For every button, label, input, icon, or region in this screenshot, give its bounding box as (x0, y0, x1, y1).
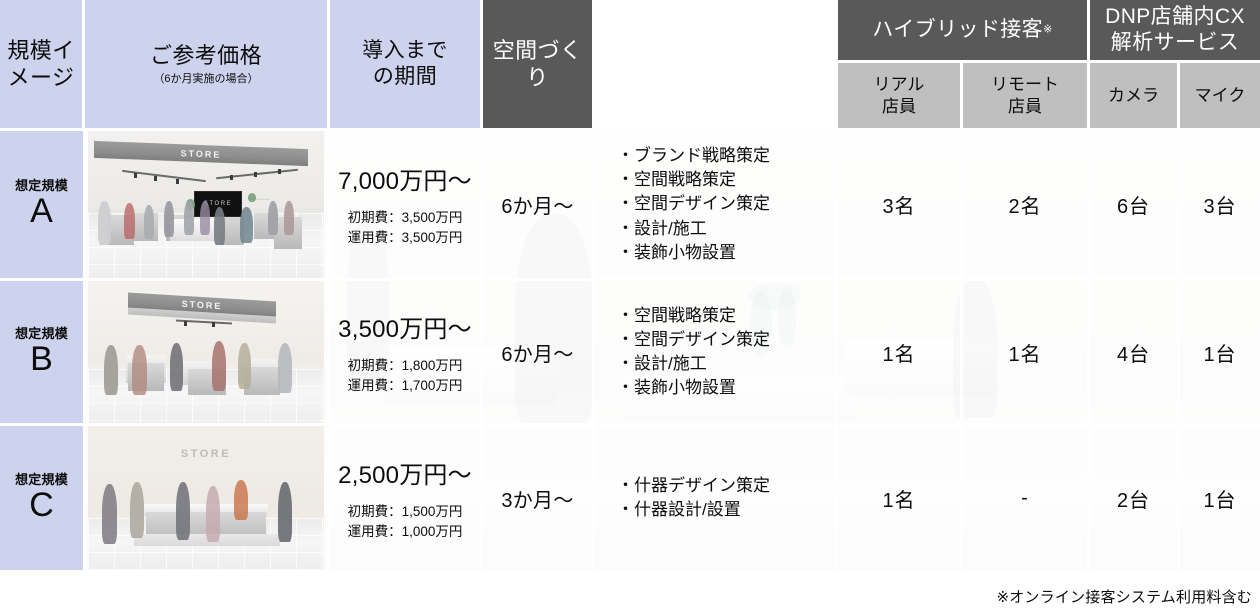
row-label-b-letter: B (30, 342, 53, 378)
row-c-remote-staff: - (963, 423, 1090, 570)
header-remote-staff-line2: 店員 (1008, 96, 1042, 118)
row-b-feature-item: ・装飾小物設置 (617, 376, 770, 400)
row-a-remote-staff-value: 2名 (1008, 190, 1041, 219)
row-a-feature-item: ・ブランド戦略策定 (617, 144, 770, 168)
header-hybrid-label: ハイブリッド接客 (872, 18, 1043, 41)
row-b-feature-item: ・空間戦略策定 (617, 304, 770, 328)
header-dnp-service: DNP店舗内CX 解析サービス (1090, 0, 1260, 60)
row-label-c-letter: C (29, 488, 54, 524)
row-c-mic-value: 1台 (1203, 484, 1236, 513)
row-c-period: 3か月～ (483, 423, 595, 570)
row-a-price-initial: 初期費：3,500万円 (348, 210, 463, 225)
row-b-period: 6か月～ (483, 278, 595, 423)
row-b-feature-item: ・空間デザイン策定 (617, 328, 770, 352)
header-period: 導入まで の期間 (330, 0, 483, 128)
row-a-mic-value: 3台 (1203, 190, 1236, 219)
row-c-feature-item: ・什器デザイン策定 (617, 474, 770, 498)
row-label-b-top: 想定規模 (15, 327, 68, 341)
row-a-camera: 6台 (1090, 128, 1180, 278)
row-a-real-staff-value: 3名 (882, 190, 915, 219)
header-camera-label: カメラ (1108, 85, 1159, 107)
row-label-a: 想定規模 A (0, 128, 83, 278)
header-corner-blank-2 (595, 60, 838, 128)
row-c-remote-staff-value: - (1021, 487, 1029, 510)
comparison-table: 規模イメージ ご参考価格 （6か月実施の場合） 導入まで の期間 空間づくり ハ… (0, 0, 1260, 615)
row-b-feature-item: ・設計/施工 (617, 352, 770, 376)
row-b-features: ・空間戦略策定 ・空間デザイン策定 ・設計/施工 ・装飾小物設置 (595, 278, 838, 423)
row-a-scale-image: STORE STORE (85, 128, 330, 278)
row-b-price-main: 3,500万円～ (338, 309, 472, 344)
header-space-label: 空間づくり (483, 37, 592, 92)
header-real-staff-line1: リアル (874, 74, 925, 96)
row-a-remote-staff: 2名 (963, 128, 1090, 278)
row-b-mic: 1台 (1180, 278, 1260, 423)
row-a-price: 7,000万円～ 初期費：3,500万円 運用費：3,500万円 (330, 128, 483, 278)
row-a-camera-value: 6台 (1117, 190, 1150, 219)
row-a-price-operation: 運用費：3,500万円 (348, 230, 463, 245)
header-hybrid-service: ハイブリッド接客※ (838, 0, 1090, 60)
row-label-c: 想定規模 C (0, 423, 83, 570)
row-c-camera-value: 2台 (1117, 484, 1150, 513)
header-dnp-line1: DNP店舗内CX (1105, 4, 1245, 30)
row-a-real-staff: 3名 (838, 128, 963, 278)
row-c-features: ・什器デザイン策定 ・什器設計/設置 (595, 423, 838, 570)
header-corner-blank (595, 0, 838, 60)
header-space: 空間づくり (483, 0, 595, 128)
header-scale-image: 規模イメージ (0, 0, 85, 128)
row-c-camera: 2台 (1090, 423, 1180, 570)
row-b-remote-staff-value: 1名 (1008, 338, 1041, 367)
row-c-scale-image: STORE (85, 423, 330, 570)
row-b-price: 3,500万円～ 初期費：1,800万円 運用費：1,700万円 (330, 278, 483, 423)
row-c-price-main: 2,500万円～ (338, 455, 472, 490)
header-period-line1: 導入まで (362, 38, 448, 64)
row-a-feature-item: ・空間戦略策定 (617, 168, 770, 192)
row-a-period-value: 6か月～ (501, 190, 573, 219)
row-b-period-value: 6か月～ (501, 338, 573, 367)
header-scale-image-label: 規模イメージ (0, 37, 82, 92)
header-remote-staff: リモート 店員 (963, 60, 1090, 128)
row-b-price-operation: 運用費：1,700万円 (348, 378, 463, 393)
row-b-remote-staff: 1名 (963, 278, 1090, 423)
header-real-staff-line2: 店員 (882, 96, 916, 118)
row-a-feature-item: ・装飾小物設置 (617, 241, 770, 265)
row-b-price-initial: 初期費：1,800万円 (348, 358, 463, 373)
row-a-features: ・ブランド戦略策定 ・空間戦略策定 ・空間デザイン策定 ・設計/施工 ・装飾小物… (595, 128, 838, 278)
row-b-scale-image: STORE (85, 278, 330, 423)
store-render-small: STORE (88, 426, 324, 570)
row-a-mic: 3台 (1180, 128, 1260, 278)
pricing-comparison-slide: 規模イメージ ご参考価格 （6か月実施の場合） 導入まで の期間 空間づくり ハ… (0, 0, 1260, 615)
header-period-line2: の期間 (373, 64, 437, 90)
header-real-staff: リアル 店員 (838, 60, 963, 128)
header-dnp-line2: 解析サービス (1111, 30, 1239, 56)
row-a-feature-item: ・空間デザイン策定 (617, 192, 770, 216)
header-camera: カメラ (1090, 60, 1180, 128)
row-a-period: 6か月～ (483, 128, 595, 278)
footnote: ※オンライン接客システム利用料含む (996, 586, 1252, 607)
row-b-camera-value: 4台 (1117, 338, 1150, 367)
row-b-mic-value: 1台 (1203, 338, 1236, 367)
header-hybrid-mark: ※ (1043, 23, 1053, 35)
row-label-a-top: 想定規模 (15, 179, 68, 193)
header-remote-staff-line1: リモート (991, 74, 1059, 96)
row-c-real-staff: 1名 (838, 423, 963, 570)
row-label-b: 想定規模 B (0, 278, 83, 423)
header-price-label: ご参考価格 (150, 42, 262, 70)
header-mic: マイク (1180, 60, 1260, 128)
store-sign-c: STORE (88, 448, 324, 460)
store-render-medium: STORE (88, 281, 324, 423)
row-c-real-staff-value: 1名 (882, 484, 915, 513)
row-label-a-letter: A (30, 194, 53, 230)
store-render-large: STORE STORE (88, 131, 324, 278)
row-a-feature-item: ・設計/施工 (617, 217, 770, 241)
row-b-real-staff-value: 1名 (882, 338, 915, 367)
row-c-mic: 1台 (1180, 423, 1260, 570)
row-c-period-value: 3か月～ (501, 484, 573, 513)
header-price: ご参考価格 （6か月実施の場合） (85, 0, 330, 128)
row-c-price-initial: 初期費：1,500万円 (348, 504, 463, 519)
row-b-camera: 4台 (1090, 278, 1180, 423)
row-c-price-operation: 運用費：1,000万円 (348, 524, 463, 539)
row-label-c-top: 想定規模 (15, 473, 68, 487)
header-mic-label: マイク (1195, 85, 1246, 107)
header-price-note: （6か月実施の場合） (153, 72, 258, 86)
row-b-real-staff: 1名 (838, 278, 963, 423)
row-c-feature-item: ・什器設計/設置 (617, 498, 770, 522)
row-c-price: 2,500万円～ 初期費：1,500万円 運用費：1,000万円 (330, 423, 483, 570)
row-a-price-main: 7,000万円～ (338, 161, 472, 196)
